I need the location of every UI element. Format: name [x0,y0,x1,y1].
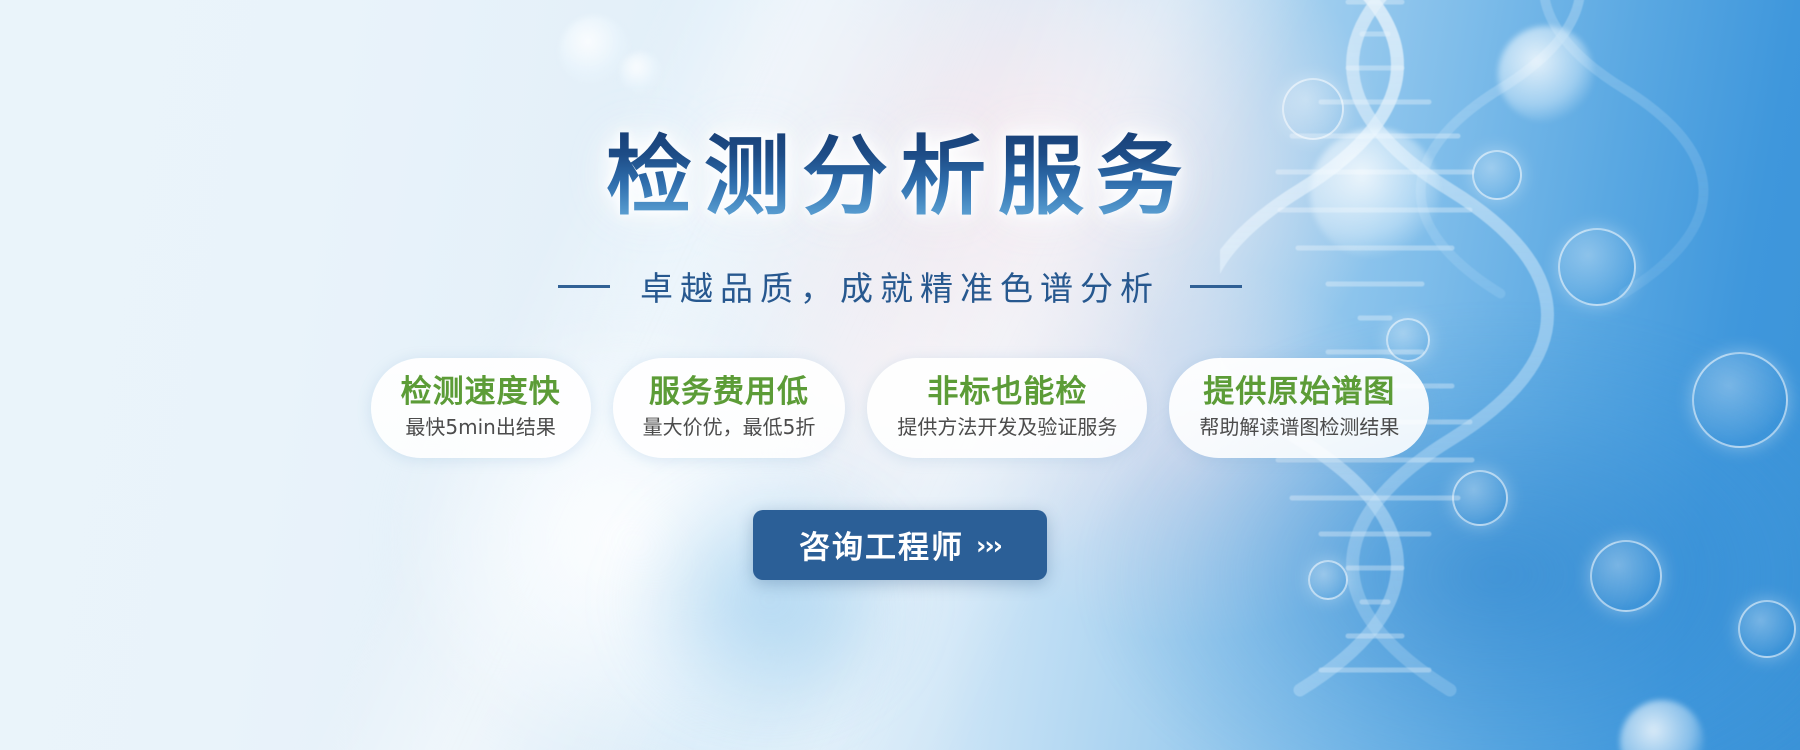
feature-list: 检测速度快 最快5min出结果 服务费用低 量大价优，最低5折 非标也能检 提供… [371,358,1430,458]
feature-pill-subtitle: 提供方法开发及验证服务 [897,415,1117,440]
promo-banner: 检测分析服务 检测分析服务 卓越品质，成就精准色谱分析 检测速度快 最快5min… [0,0,1800,750]
banner-subtitle: 卓越品质，成就精准色谱分析 [558,262,1242,310]
chevron-triple-right-icon: ››› [976,531,1001,560]
feature-pill-subtitle: 帮助解读谱图检测结果 [1199,415,1399,440]
feature-pill-subtitle: 最快5min出结果 [401,415,561,440]
consult-engineer-button[interactable]: 咨询工程师 ››› [753,510,1047,580]
feature-pill-subtitle: 量大价优，最低5折 [643,415,816,440]
subtitle-rule-right-icon [1190,285,1242,288]
cta-container: 咨询工程师 ››› [753,510,1047,580]
page-title: 检测分析服务 检测分析服务 [606,128,1194,230]
subtitle-text: 卓越品质，成就精准色谱分析 [640,262,1160,310]
feature-pill-3[interactable]: 非标也能检 提供方法开发及验证服务 [867,358,1147,458]
feature-pill-title: 提供原始谱图 [1199,374,1399,411]
subtitle-rule-left-icon [558,285,610,288]
feature-pill-title: 非标也能检 [897,374,1117,411]
banner-content: 检测分析服务 检测分析服务 卓越品质，成就精准色谱分析 检测速度快 最快5min… [0,0,1800,750]
feature-pill-4[interactable]: 提供原始谱图 帮助解读谱图检测结果 [1169,358,1429,458]
feature-pill-1[interactable]: 检测速度快 最快5min出结果 [371,358,591,458]
page-title-text: 检测分析服务 [606,128,1194,230]
feature-pill-2[interactable]: 服务费用低 量大价优，最低5折 [613,358,846,458]
feature-pill-title: 服务费用低 [643,374,816,411]
feature-pill-title: 检测速度快 [401,374,561,411]
cta-label: 咨询工程师 [799,522,964,567]
